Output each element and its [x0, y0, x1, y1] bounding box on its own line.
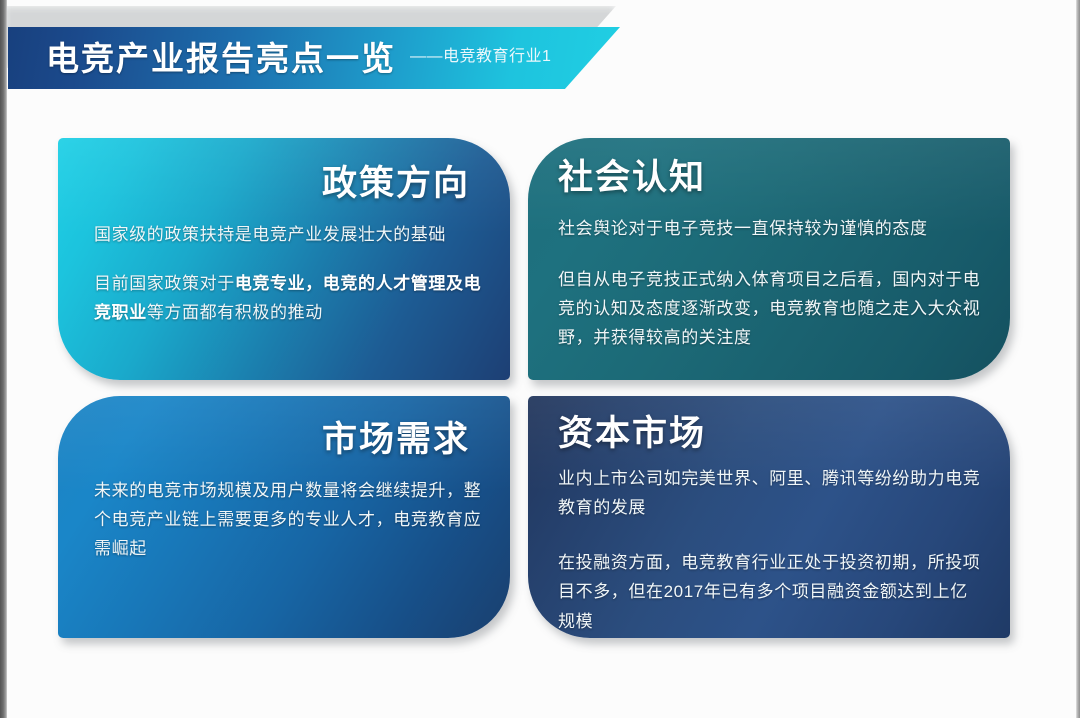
body-text: 社会舆论对于电子竞技一直保持较为谨慎的态度 [558, 219, 928, 238]
presentation-slide: 电竞产业报告亮点一览 ——电竞教育行业1 政策方向 国家级的政策扶持是电竞产业发… [0, 0, 1080, 718]
title-banner: 电竞产业报告亮点一览 ——电竞教育行业1 [8, 27, 620, 89]
card-title-capital: 资本市场 [558, 412, 984, 456]
card-grid: 政策方向 国家级的政策扶持是电竞产业发展壮大的基础目前国家政策对于电竞专业，电竞… [58, 138, 1010, 638]
body-text: 但自从电子竞技正式纳入体育项目之后看，国内对于电竞的认知及态度逐渐改变，电竞教育… [558, 270, 980, 347]
card-market-demand: 市场需求 未来的电竞市场规模及用户数量将会继续提升，整个电竞产业链上需要更多的专… [58, 396, 510, 638]
card-title-market: 市场需求 [94, 418, 486, 462]
card-paragraph: 在投融资方面，电竞教育行业正处于投资初期，所投项目不多，但在2017年已有多个项… [558, 548, 984, 636]
card-paragraph: 未来的电竞市场规模及用户数量将会继续提升，整个电竞产业链上需要更多的专业人才，电… [94, 476, 486, 564]
page-title: 电竞产业报告亮点一览 [46, 42, 396, 75]
banner-text-group: 电竞产业报告亮点一览 ——电竞教育行业1 [8, 27, 620, 89]
card-body-policy: 国家级的政策扶持是电竞产业发展壮大的基础目前国家政策对于电竞专业，电竞的人才管理… [94, 220, 486, 328]
slide-right-edge [1076, 0, 1080, 718]
card-capital-market: 资本市场 业内上市公司如完美世界、阿里、腾讯等纷纷助力电竞教育的发展在投融资方面… [528, 396, 1010, 638]
page-subtitle: ——电竞教育行业1 [410, 49, 551, 67]
card-paragraph: 业内上市公司如完美世界、阿里、腾讯等纷纷助力电竞教育的发展 [558, 464, 984, 522]
card-social-cognition: 社会认知 社会舆论对于电子竞技一直保持较为谨慎的态度但自从电子竞技正式纳入体育项… [528, 138, 1010, 380]
body-text: 业内上市公司如完美世界、阿里、腾讯等纷纷助力电竞教育的发展 [558, 469, 980, 517]
body-text: 目前国家政策对于 [94, 274, 235, 293]
card-body-market: 未来的电竞市场规模及用户数量将会继续提升，整个电竞产业链上需要更多的专业人才，电… [94, 476, 486, 564]
card-body-capital: 业内上市公司如完美世界、阿里、腾讯等纷纷助力电竞教育的发展在投融资方面，电竞教育… [558, 464, 984, 636]
card-paragraph: 目前国家政策对于电竞专业，电竞的人才管理及电竞职业等方面都有积极的推动 [94, 269, 486, 327]
body-text: 等方面都有积极的推动 [147, 303, 323, 322]
card-body-social: 社会舆论对于电子竞技一直保持较为谨慎的态度但自从电子竞技正式纳入体育项目之后看，… [558, 214, 984, 353]
card-policy-direction: 政策方向 国家级的政策扶持是电竞产业发展壮大的基础目前国家政策对于电竞专业，电竞… [58, 138, 510, 380]
body-text: 在投融资方面，电竞教育行业正处于投资初期，所投项目不多，但在2017年已有多个项… [558, 553, 980, 630]
body-text: 国家级的政策扶持是电竞产业发展壮大的基础 [94, 225, 446, 244]
card-paragraph: 社会舆论对于电子竞技一直保持较为谨慎的态度 [558, 214, 984, 243]
card-title-policy: 政策方向 [94, 162, 486, 206]
card-paragraph: 但自从电子竞技正式纳入体育项目之后看，国内对于电竞的认知及态度逐渐改变，电竞教育… [558, 265, 984, 353]
card-paragraph: 国家级的政策扶持是电竞产业发展壮大的基础 [94, 220, 486, 249]
slide-left-edge [0, 0, 7, 718]
card-title-social: 社会认知 [558, 156, 984, 200]
body-text: 未来的电竞市场规模及用户数量将会继续提升，整个电竞产业链上需要更多的专业人才，电… [94, 481, 481, 558]
